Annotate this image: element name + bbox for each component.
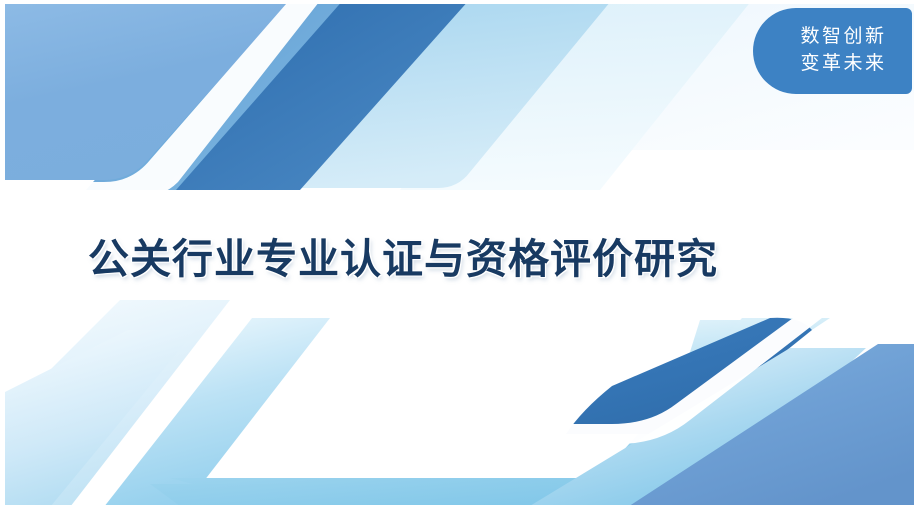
slogan-badge: 数智创新 变革未来 <box>753 8 912 94</box>
bottom-white-band <box>0 505 920 518</box>
left-white-margin <box>0 0 5 518</box>
slogan-badge-line-2: 变革未来 <box>800 51 886 78</box>
top-white-margin <box>0 0 920 4</box>
right-white-margin <box>914 0 920 518</box>
presentation-slide: 数智创新 变革未来 公关行业专业认证与资格评价研究 <box>0 0 920 518</box>
slogan-badge-line-1: 数智创新 <box>800 24 886 51</box>
